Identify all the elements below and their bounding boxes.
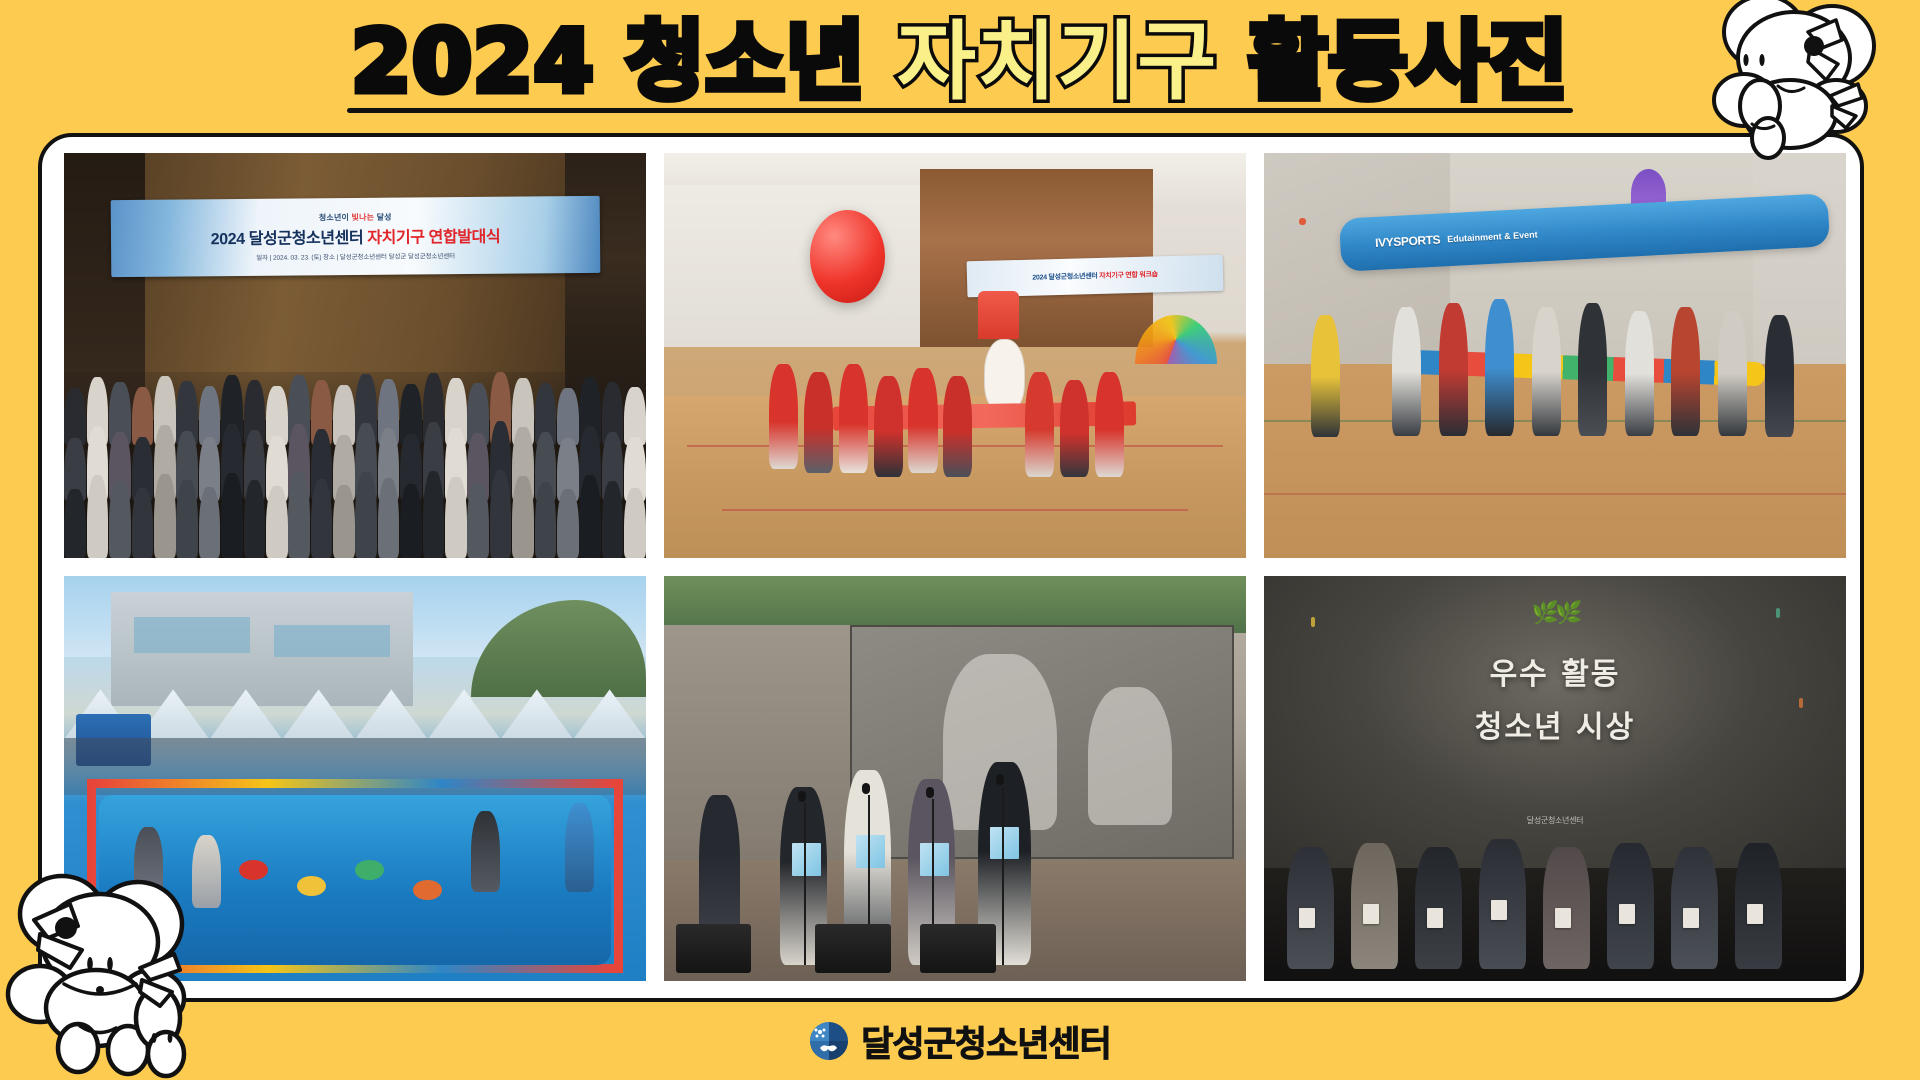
photo-1-attendee bbox=[288, 472, 310, 558]
photo-5-microphone bbox=[996, 774, 1004, 785]
photo-4-building-glass bbox=[134, 617, 250, 653]
photo-4-float-boat bbox=[413, 880, 442, 900]
photo-1-banner-sub: 일자 | 2024. 03. 23. (토) 장소 | 달성군청소년센터 달성군… bbox=[256, 250, 455, 262]
photo-1-attendee bbox=[266, 486, 288, 558]
photo-1-banner: 청소년이 빛나는 달성 2024 달성군청소년센터 자치기구 연합발대식 일자 … bbox=[110, 195, 600, 276]
photo-5-script-booklet bbox=[856, 835, 885, 867]
photo-3-court-line bbox=[1264, 493, 1846, 495]
photo-2-participant bbox=[839, 364, 868, 473]
photo-5-mic-stand bbox=[804, 803, 806, 965]
photo-1-attendee bbox=[176, 480, 198, 558]
photo-3-participant bbox=[1392, 307, 1421, 437]
photo-4-outdoor-water-festival[interactable] bbox=[64, 576, 646, 981]
photo-4-visitor bbox=[134, 827, 163, 900]
photo-1-attendee bbox=[557, 489, 579, 558]
photo-4-visitor bbox=[192, 835, 221, 908]
photo-6-certificate bbox=[1299, 908, 1315, 928]
photo-1-attendee bbox=[132, 488, 154, 558]
photo-4-visitor bbox=[471, 811, 500, 892]
photo-6-certificate bbox=[1427, 908, 1443, 928]
title-underline bbox=[347, 108, 1573, 113]
photo-1-attendee bbox=[400, 484, 422, 558]
photo-1-attendee bbox=[109, 481, 131, 558]
photo-3-participant bbox=[1311, 315, 1340, 437]
photo-6-award-ceremony[interactable]: 🌿🌿 우수 활동 청소년 시상 달성군청소년센터 bbox=[1264, 576, 1846, 981]
photo-2-participant bbox=[1095, 372, 1124, 477]
photo-1-attendee bbox=[579, 475, 601, 558]
photo-5-outdoor-stage-presentation[interactable] bbox=[664, 576, 1246, 981]
photo-4-building-glass bbox=[274, 625, 390, 657]
photo-4-tent bbox=[429, 689, 500, 738]
photo-6-certificate bbox=[1491, 900, 1507, 920]
photo-1-attendee bbox=[535, 482, 557, 558]
photo-3-participant bbox=[1718, 311, 1747, 437]
photo-1-attendee bbox=[445, 477, 467, 558]
photo-3-participant bbox=[1578, 303, 1607, 437]
photo-2-participant bbox=[804, 372, 833, 473]
photo-2-banner-dark: 2024 달성군청소년센터 bbox=[1032, 273, 1099, 282]
photo-1-banner-top-hl: 빛나는 bbox=[351, 212, 374, 221]
photo-3-brand-tagline: Edutainment & Event bbox=[1447, 229, 1538, 244]
photo-2-participant bbox=[1060, 380, 1089, 477]
poster-title-bar: 2024 청소년 자치기구 활동사진 bbox=[0, 6, 1920, 124]
photo-2-participant bbox=[1025, 372, 1054, 477]
photo-2-mascot-doll bbox=[984, 339, 1025, 412]
photo-6-confetti bbox=[1776, 608, 1780, 618]
photo-6-confetti bbox=[1799, 698, 1803, 708]
photo-2-banner-red: 자치기구 연합 워크숍 bbox=[1099, 272, 1158, 281]
photo-1-attendee bbox=[244, 480, 266, 558]
title-segment-1: 2024 청소년 bbox=[351, 12, 897, 112]
photo-1-attendee bbox=[154, 474, 176, 558]
photo-6-screen-line-1: 우수 활동 bbox=[1264, 649, 1846, 693]
photo-6-screen-logo: 달성군청소년센터 bbox=[1527, 815, 1583, 826]
poster-root: 2024 청소년 자치기구 활동사진 청소년이 빛나는 달성 2024 달성군청… bbox=[0, 0, 1920, 1080]
photo-5-mic-stand bbox=[1002, 787, 1004, 965]
photo-1-attendee bbox=[87, 475, 109, 558]
photo-4-tent bbox=[574, 689, 645, 738]
photo-3-participant bbox=[1532, 307, 1561, 437]
photo-5-staff bbox=[699, 795, 740, 941]
photo-5-stage-speaker bbox=[676, 924, 752, 973]
title-segment-3: 활동사진 bbox=[1217, 12, 1568, 112]
photo-4-pool-water bbox=[99, 795, 611, 965]
photo-5-microphone bbox=[862, 783, 870, 794]
photo-1-crowd-row-3 bbox=[64, 469, 646, 558]
photo-4-float-boat bbox=[355, 860, 384, 880]
photo-5-stage-light bbox=[815, 924, 891, 973]
photo-1-banner-main: 2024 달성군청소년센터 자치기구 연합발대식 bbox=[210, 222, 500, 249]
photo-1-attendee bbox=[378, 478, 400, 558]
photo-1-banner-main-dark: 2024 달성군청소년센터 bbox=[210, 229, 367, 247]
poster-title-inner: 2024 청소년 자치기구 활동사진 bbox=[345, 16, 1575, 115]
photo-1-attendee bbox=[64, 489, 86, 558]
photo-2-participant bbox=[769, 364, 798, 469]
photo-3-participant bbox=[1485, 299, 1514, 437]
photo-1-attendee bbox=[311, 479, 333, 558]
photo-1-attendee bbox=[199, 487, 221, 558]
photo-1-attendee bbox=[355, 472, 377, 558]
photo-4-float-boat bbox=[297, 876, 326, 896]
photo-4-visitor bbox=[565, 803, 594, 892]
photo-2-gym-cooperation-game[interactable]: 2024 달성군청소년센터 자치기구 연합 워크숍 bbox=[664, 153, 1246, 558]
page-title: 2024 청소년 자치기구 활동사진 bbox=[351, 16, 1569, 109]
photo-1-attendee bbox=[333, 485, 355, 558]
photo-3-brand-name: IVYSPORTS bbox=[1374, 233, 1440, 250]
photo-6-screen-line-2: 청소년 시상 bbox=[1264, 702, 1846, 746]
photo-2-red-ball bbox=[810, 210, 886, 303]
photo-3-participant bbox=[1765, 315, 1794, 437]
photo-5-stage-light bbox=[920, 924, 996, 973]
photo-6-certificate bbox=[1555, 908, 1571, 928]
photo-2-court-line-2 bbox=[722, 509, 1188, 511]
photo-1-attendee bbox=[467, 483, 489, 558]
photo-2-participant bbox=[874, 376, 903, 477]
photo-5-script-booklet bbox=[920, 843, 949, 875]
photo-4-tent bbox=[502, 689, 573, 738]
photo-5-projection-screen bbox=[850, 625, 1234, 860]
footer: 달성군청소년센터 bbox=[0, 1002, 1920, 1080]
photo-6-certificate bbox=[1747, 904, 1763, 924]
photo-2-participant bbox=[943, 376, 972, 477]
photo-2-participant bbox=[908, 368, 937, 473]
photo-5-stone-wall bbox=[664, 625, 862, 828]
photo-grid: 청소년이 빛나는 달성 2024 달성군청소년센터 자치기구 연합발대식 일자 … bbox=[64, 153, 1846, 981]
photo-4-tent bbox=[356, 689, 427, 738]
photo-panel: 청소년이 빛나는 달성 2024 달성군청소년센터 자치기구 연합발대식 일자 … bbox=[38, 133, 1864, 1002]
photo-6-certificate bbox=[1683, 908, 1699, 928]
photo-4-tent-row bbox=[64, 689, 646, 738]
photo-3-participant bbox=[1671, 307, 1700, 437]
footer-organization-name: 달성군청소년센터 bbox=[861, 1016, 1111, 1067]
photo-5-script-booklet bbox=[990, 827, 1019, 859]
photo-1-attendee bbox=[490, 470, 512, 558]
photo-4-float-boat bbox=[239, 860, 268, 880]
photo-6-laurel-icon: 🌿🌿 bbox=[1532, 600, 1579, 626]
photo-3-participant bbox=[1625, 311, 1654, 437]
photo-3-participant bbox=[1439, 303, 1468, 437]
photo-1-banner-top: 청소년이 빛나는 달성 bbox=[318, 211, 391, 223]
dalseong-quadrant-logo-icon bbox=[809, 1021, 849, 1061]
photo-3-climbing-hold bbox=[1299, 218, 1306, 225]
photo-1-launch-ceremony[interactable]: 청소년이 빛나는 달성 2024 달성군청소년센터 자치기구 연합발대식 일자 … bbox=[64, 153, 646, 558]
photo-1-banner-top-b: 달성 bbox=[374, 212, 392, 221]
photo-6-confetti bbox=[1311, 617, 1315, 627]
photo-4-tent bbox=[283, 689, 354, 738]
photo-5-microphone bbox=[798, 791, 806, 802]
photo-1-attendee bbox=[602, 481, 624, 558]
photo-1-attendee bbox=[512, 476, 534, 558]
photo-4-tent bbox=[211, 689, 282, 738]
photo-1-attendee bbox=[423, 471, 445, 558]
photo-5-screen-figure bbox=[1088, 687, 1172, 826]
photo-2-red-arch bbox=[978, 291, 1019, 340]
photo-5-microphone bbox=[926, 787, 934, 798]
photo-2-banner-text: 2024 달성군청소년센터 자치기구 연합 워크숍 bbox=[1032, 270, 1158, 283]
photo-6-certificate bbox=[1619, 904, 1635, 924]
photo-1-banner-top-a: 청소년이 bbox=[318, 213, 351, 222]
photo-3-ivysports-activity[interactable]: IVYSPORTS Edutainment & Event bbox=[1264, 153, 1846, 558]
photo-2-white-wall bbox=[664, 185, 932, 347]
photo-1-banner-main-red: 자치기구 연합발대식 bbox=[367, 228, 500, 246]
photo-1-attendee bbox=[624, 488, 646, 558]
photo-5-script-booklet bbox=[792, 843, 821, 875]
title-segment-highlight: 자치기구 bbox=[897, 12, 1217, 112]
photo-1-attendee bbox=[221, 473, 243, 558]
photo-6-certificate bbox=[1363, 904, 1379, 924]
